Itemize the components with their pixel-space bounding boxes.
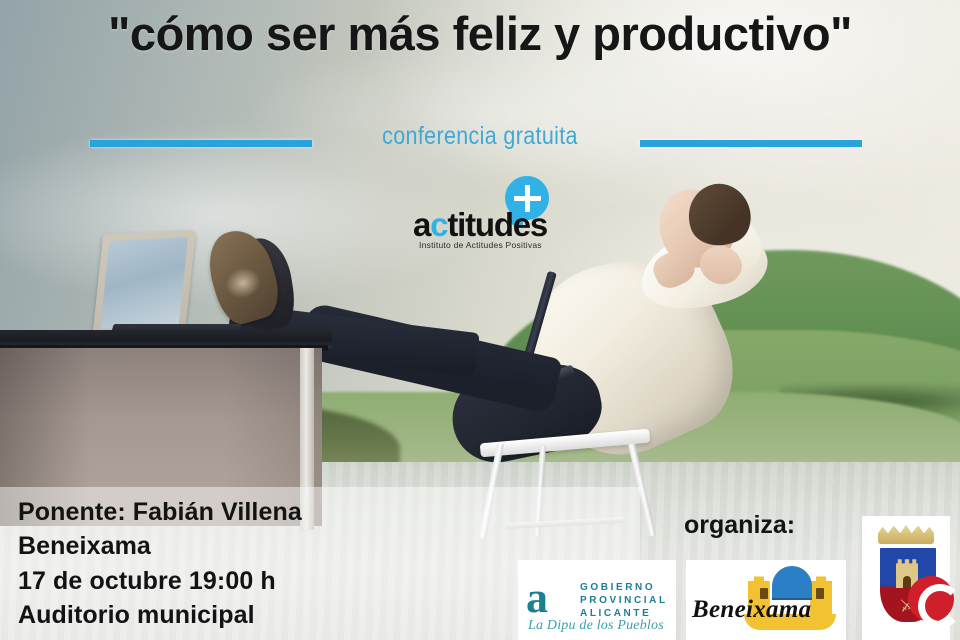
crown-icon [878, 524, 934, 544]
plus-icon [514, 196, 541, 201]
beneixama-wordmark: Beneixama [692, 596, 811, 624]
speaker-line: Ponente: Fabián Villena [18, 495, 538, 529]
dipu-line-2: PROVINCIAL [580, 594, 668, 607]
organiza-label: organiza: [684, 511, 795, 540]
page-title: "cómo ser más feliz y productivo" [0, 6, 960, 61]
dipu-slogan: La Dipu de los Pueblos [528, 618, 664, 634]
brand-wordmark: actitudes [413, 206, 547, 244]
window-icon [816, 588, 824, 599]
location-town: Beneixama [18, 529, 538, 563]
laptop-screen [92, 230, 196, 339]
logo-gobierno-provincial-alicante: a GOBIERNO PROVINCIAL ALICANTE La Dipu d… [518, 560, 676, 640]
c-badge-icon [908, 576, 954, 622]
logo-beneixama: Beneixama [686, 560, 846, 640]
laptop-display [100, 237, 188, 329]
dipu-line-1: GOBIERNO [580, 581, 668, 594]
dipu-wordmark: GOBIERNO PROVINCIAL ALICANTE [580, 581, 668, 620]
brand-name-accent: c [430, 206, 447, 243]
tower-door-icon [903, 576, 911, 588]
actitudes-logo: actitudes Instituto de Actitudes Positiv… [405, 176, 565, 246]
cloud-top [240, 40, 760, 190]
event-details: Ponente: Fabián Villena Beneixama 17 de … [18, 495, 538, 632]
event-poster: "cómo ser más feliz y productivo" confer… [0, 0, 960, 640]
subtitle: conferencia gratuita [67, 122, 893, 151]
dome-icon [772, 566, 812, 600]
brand-name-part2: titudes [447, 206, 547, 243]
logo-escudo-beneixama: ⚔ [862, 516, 950, 640]
brand-name-part1: a [413, 206, 430, 243]
date-time: 17 de octubre 19:00 h [18, 564, 538, 598]
brand-tagline: Instituto de Actitudes Positivas [419, 240, 542, 250]
venue: Auditorio municipal [18, 598, 538, 632]
